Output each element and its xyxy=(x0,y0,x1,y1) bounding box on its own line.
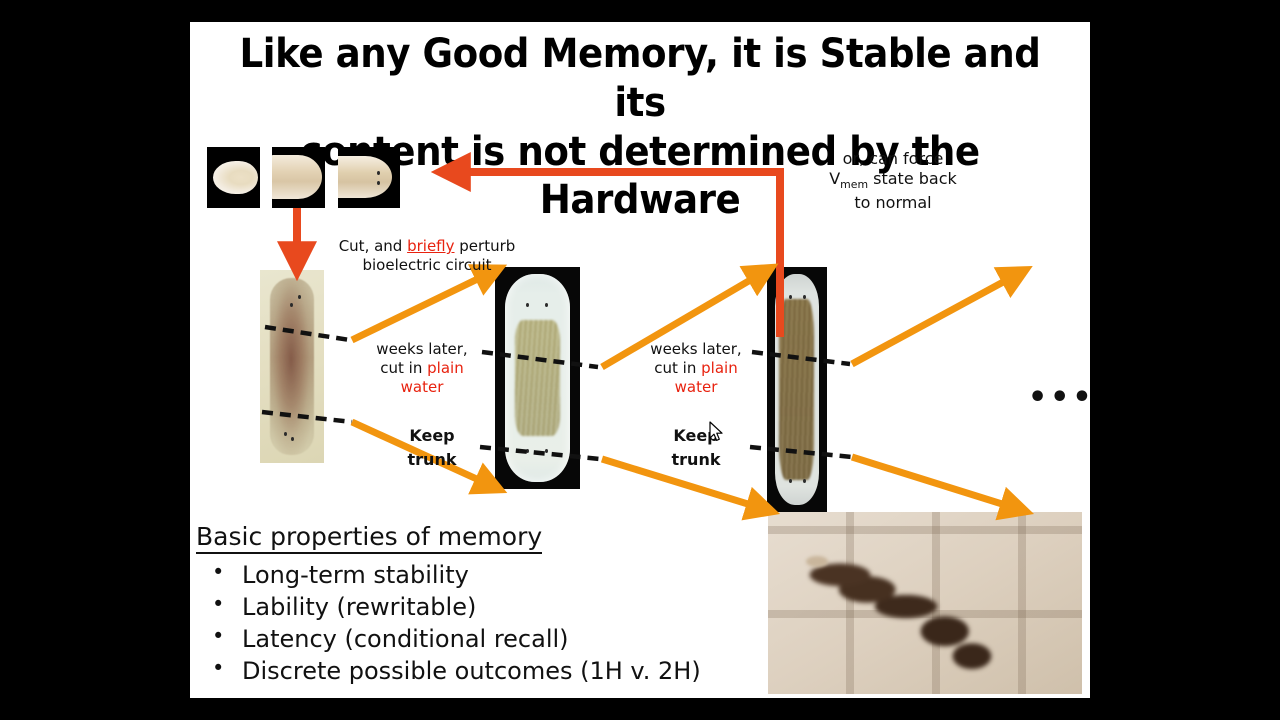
weeks-later-label-1: weeks later, cut in plain water xyxy=(360,340,484,398)
keep-trunk-label-2: Keep trunk xyxy=(648,424,744,472)
planarian-head-photo-1 xyxy=(207,147,260,208)
one-headed-worm-panel xyxy=(260,270,324,463)
cut-label-pre: Cut, and xyxy=(339,237,407,255)
two-headed-worm-pale-panel xyxy=(495,267,580,489)
keep-trunk-1-line-1: Keep xyxy=(384,424,480,448)
worm-gut xyxy=(515,320,559,435)
force-vmem-label: or, can force Vmem state back to normal xyxy=(788,149,998,213)
page-title-line-1: Like any Good Memory, it is Stable and i… xyxy=(222,30,1059,128)
keep-trunk-1-line-2: trunk xyxy=(384,448,480,472)
force-vmem-line-2-post: state back xyxy=(868,169,957,188)
weeks-later-1-emphasis-plain: plain xyxy=(427,359,464,377)
weeks-later-1-line-1: weeks later, xyxy=(360,340,484,359)
screen: Like any Good Memory, it is Stable and i… xyxy=(0,0,1280,720)
cut-label-emphasis: briefly xyxy=(407,237,454,255)
worm-gut xyxy=(779,299,814,480)
slide-canvas: Like any Good Memory, it is Stable and i… xyxy=(190,22,1090,698)
cut-label-line-2: bioelectric circuit xyxy=(312,256,542,275)
planarian-video-still xyxy=(768,512,1082,694)
force-vmem-v: V xyxy=(829,169,840,188)
force-vmem-subscript: mem xyxy=(840,179,868,192)
weeks-later-1-emphasis-water: water xyxy=(360,378,484,397)
weeks-later-2-emphasis-water: water xyxy=(634,378,758,397)
weeks-later-label-2: weeks later, cut in plain water xyxy=(634,340,758,398)
planarian-head-photo-2 xyxy=(272,147,325,208)
force-vmem-line-3: to normal xyxy=(788,193,998,213)
force-vmem-line-1: or, can force xyxy=(788,149,998,169)
cut-label-post: perturb xyxy=(455,237,516,255)
mouse-cursor xyxy=(709,421,725,443)
list-item: Lability (rewritable) xyxy=(212,591,656,623)
list-item: Long-term stability xyxy=(212,559,656,591)
keep-trunk-2-line-1: Keep xyxy=(648,424,744,448)
weeks-later-2-line-2-pre: cut in xyxy=(654,359,701,377)
keep-trunk-2-line-2: trunk xyxy=(648,448,744,472)
weeks-later-1-line-2-pre: cut in xyxy=(380,359,427,377)
planarian-head-photo-3 xyxy=(338,147,400,208)
planarian-animal xyxy=(809,559,1004,672)
two-headed-worm-brown-panel xyxy=(767,267,827,512)
planarian-head-highlight xyxy=(806,556,828,567)
basic-properties-list: Long-term stability Lability (rewritable… xyxy=(196,559,656,688)
keep-trunk-label-1: Keep trunk xyxy=(384,424,480,472)
basic-properties-block: Basic properties of memory Long-term sta… xyxy=(196,522,656,688)
weeks-later-2-line-1: weeks later, xyxy=(634,340,758,359)
basic-properties-heading: Basic properties of memory xyxy=(196,522,542,554)
weeks-later-2-emphasis-plain: plain xyxy=(701,359,738,377)
cut-and-perturb-label: Cut, and briefly perturb bioelectric cir… xyxy=(312,237,542,275)
list-item: Discrete possible outcomes (1H v. 2H) xyxy=(212,655,656,687)
list-item: Latency (conditional recall) xyxy=(212,623,656,655)
ellipsis-marker: ••• xyxy=(1028,380,1090,415)
orange-branch-arrow xyxy=(852,274,1018,509)
